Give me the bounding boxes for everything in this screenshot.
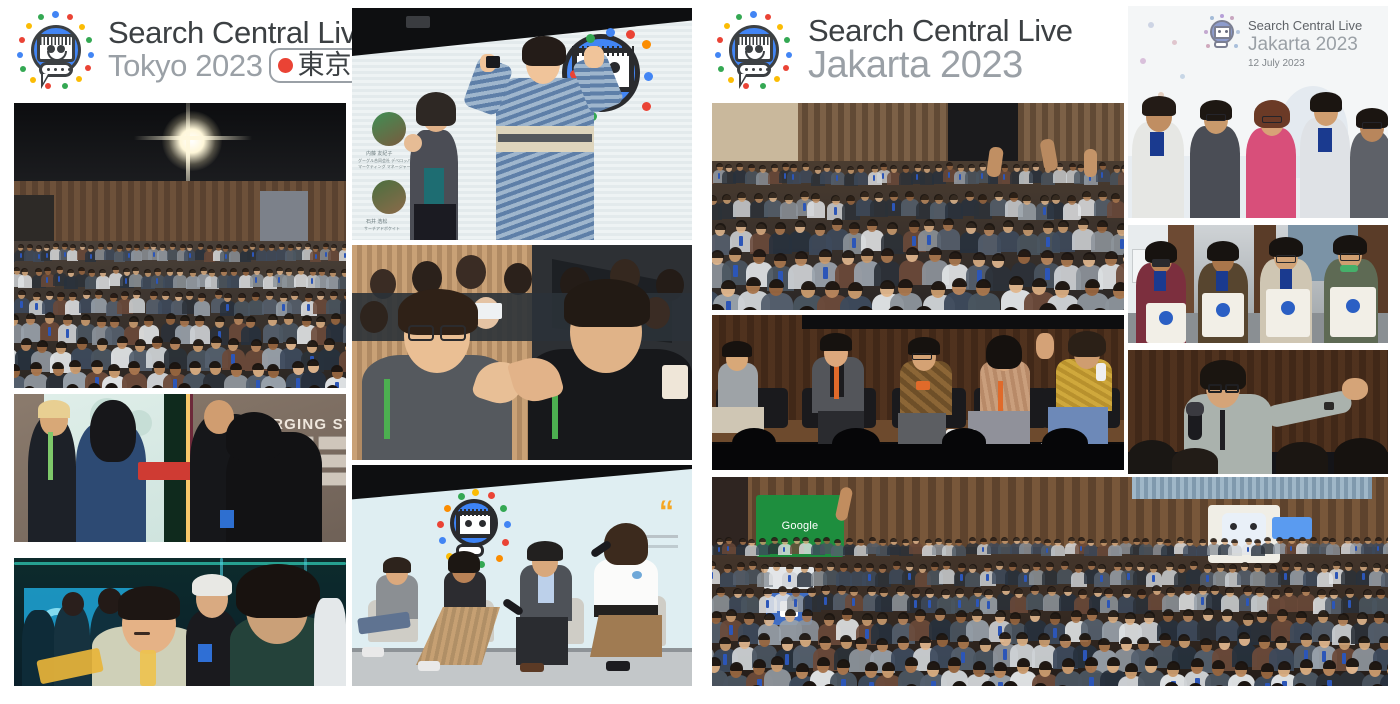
jakarta-logo-line2: Jakarta 2023 — [808, 46, 1073, 85]
backdrop-date: 12 July 2023 — [1248, 58, 1305, 69]
slide-portrait-1 — [372, 112, 406, 146]
tokyo-logo-lockup: Search Central Live Tokyo 2023 東京 — [14, 8, 354, 92]
photo-jakarta-tote-bags[interactable]: Four attendees holding up Search Central… — [1128, 225, 1388, 343]
japan-badge-characters: 東京 — [298, 51, 352, 79]
photo-jakarta-team-backdrop[interactable]: Search Central Live Jakarta 2023 12 July… — [1128, 6, 1388, 218]
photo-jakarta-audience-waving[interactable]: Jakarta audience seated in the auditoriu… — [712, 103, 1124, 310]
photo-tokyo-yukata-speaker[interactable]: 内藤 友紀子 グーグル合同会社 デベロッパー マーケティング マネージャー 石井… — [352, 8, 692, 240]
photo-jakarta-audience-question[interactable]: Attendee standing with a microphone poin… — [1128, 350, 1388, 474]
collage-canvas: Search Central Live Tokyo 2023 東京 — [0, 0, 1400, 704]
photo-tokyo-audience-wide[interactable]: Wide shot of the full Tokyo audience sea… — [14, 103, 346, 388]
search-central-mascot-icon — [14, 8, 98, 92]
slide-portrait-2 — [372, 180, 406, 214]
photo-tokyo-networking-drinks[interactable]: Attendees smiling and chatting with drin… — [14, 558, 346, 686]
japan-badge: 東京 — [269, 48, 362, 83]
photo-jakarta-group-photo[interactable]: Google Large group photo of all Jakarta … — [712, 477, 1388, 686]
photo-tokyo-panel-stage[interactable]: “ — [352, 465, 692, 686]
slide-speaker-1-role: グーグル合同会社 デベロッパー マーケティング マネージャー — [358, 158, 418, 170]
photo-tokyo-audience-heart[interactable]: Two attendees in the audience making a h… — [352, 245, 692, 460]
search-central-mascot-icon — [712, 8, 796, 92]
slide-speaker-2-name: 石井 浩松 — [366, 218, 387, 225]
slide-speaker-1-name: 内藤 友紀子 — [366, 150, 392, 157]
photo-tokyo-charging-station[interactable]: CHARGING STATION Attendees tal — [14, 394, 346, 542]
slide-speaker-2-role: サーチアドボケイト — [364, 226, 400, 232]
quote-mark: “ — [659, 497, 674, 527]
tokyo-logo-line2: Tokyo 2023 — [108, 50, 263, 82]
backdrop-line2: Jakarta 2023 — [1248, 34, 1358, 56]
tokyo-logo-line1: Search Central Live — [108, 17, 373, 49]
jakarta-logo-lockup: Search Central Live Jakarta 2023 — [712, 8, 1052, 92]
photo-jakarta-panel-stage[interactable]: Six panelists seated in black armchairs … — [712, 315, 1124, 470]
japan-flag-dot-icon — [278, 58, 293, 73]
backdrop-line1: Search Central Live — [1248, 18, 1362, 33]
jakarta-logo-line1: Search Central Live — [808, 15, 1073, 47]
